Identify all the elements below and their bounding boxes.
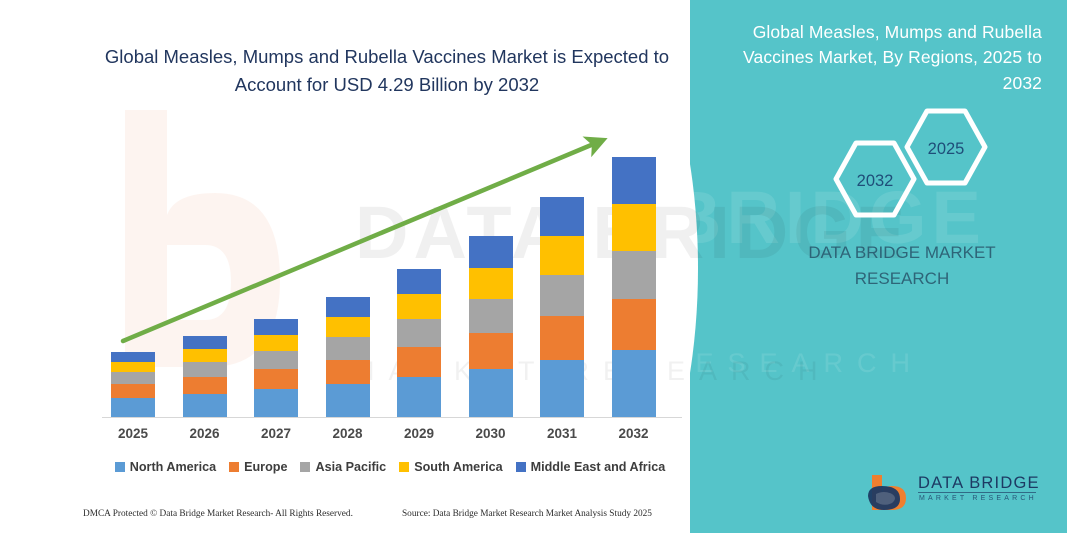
bar-segment [326,360,370,384]
bar-segment [326,337,370,359]
bar-segment [612,350,656,417]
bar-segment [397,319,441,347]
bar-segment [183,336,227,349]
bar-segment [397,294,441,319]
bar-segment [612,204,656,251]
bar-segment [254,351,298,369]
bar-segment [540,360,584,417]
bar-segment [111,362,155,373]
legend-item[interactable]: Middle East and Africa [516,460,666,474]
bar-2031 [540,197,584,417]
bar-segment [540,236,584,275]
panel-title: Global Measles, Mumps and Rubella Vaccin… [712,20,1042,96]
x-axis-label-2031: 2031 [532,426,592,441]
bar-2026 [183,336,227,417]
legend-swatch-icon [300,462,310,472]
legend-label: Asia Pacific [315,460,386,474]
bar-segment [111,352,155,362]
legend-swatch-icon [516,462,526,472]
hexagon-2032-label: 2032 [832,140,918,223]
bar-2027 [254,319,298,417]
bar-segment [612,299,656,350]
bar-segment [469,369,513,417]
bar-segment [612,251,656,300]
x-axis-label-2026: 2026 [175,426,235,441]
x-axis-label-2030: 2030 [461,426,521,441]
legend-item[interactable]: Europe [229,460,287,474]
bar-segment [254,369,298,389]
bar-segment [469,333,513,369]
chart-x-axis [102,417,682,418]
bar-segment [111,398,155,417]
legend-label: South America [414,460,502,474]
bar-segment [254,389,298,417]
x-axis-label-2029: 2029 [389,426,449,441]
bar-2025 [111,352,155,417]
bar-segment [111,384,155,398]
legend-swatch-icon [229,462,239,472]
bar-2029 [397,269,441,417]
bar-segment [183,377,227,394]
bar-segment [397,347,441,377]
legend-label: Middle East and Africa [531,460,666,474]
hexagon-2032: 2032 [832,140,918,223]
bar-2032 [612,157,656,417]
bar-2030 [469,236,513,417]
legend-item[interactable]: North America [115,460,216,474]
bar-segment [469,299,513,333]
legend-label: Europe [244,460,287,474]
brand-name-panel: DATA BRIDGE MARKET RESEARCH [762,240,1042,291]
bar-segment [469,236,513,268]
bar-segment [540,197,584,236]
x-axis-label-2032: 2032 [604,426,664,441]
bar-segment [326,384,370,417]
bar-segment [111,372,155,384]
bar-segment [326,297,370,317]
legend-swatch-icon [115,462,125,472]
x-axis-label-2028: 2028 [318,426,378,441]
x-axis-label-2027: 2027 [246,426,306,441]
bar-segment [540,275,584,316]
logo-title: DATA BRIDGE [918,474,1040,493]
bar-segment [254,319,298,335]
bar-segment [612,157,656,204]
logo-divider [918,492,1036,493]
bar-segment [397,377,441,417]
data-bridge-logo: DATA BRIDGE MARKET RESEARCH [866,472,1041,518]
bar-segment [183,394,227,417]
logo-mark-icon [866,472,916,514]
bar-segment [254,335,298,351]
infographic-canvas: BRIDGE RESEARCH Global Measles, Mumps an… [0,0,1067,533]
bar-segment [540,316,584,359]
page-title: Global Measles, Mumps and Rubella Vaccin… [82,43,692,99]
bar-segment [397,269,441,294]
legend-swatch-icon [399,462,409,472]
bar-segment [183,362,227,377]
chart-legend: North AmericaEuropeAsia PacificSouth Ame… [100,460,680,474]
x-axis-label-2025: 2025 [103,426,163,441]
logo-tagline: MARKET RESEARCH [919,495,1037,502]
bar-segment [469,268,513,300]
legend-item[interactable]: Asia Pacific [300,460,386,474]
bar-2028 [326,297,370,417]
bar-segment [326,317,370,337]
legend-label: North America [130,460,216,474]
bar-segment [183,349,227,362]
legend-item[interactable]: South America [399,460,502,474]
